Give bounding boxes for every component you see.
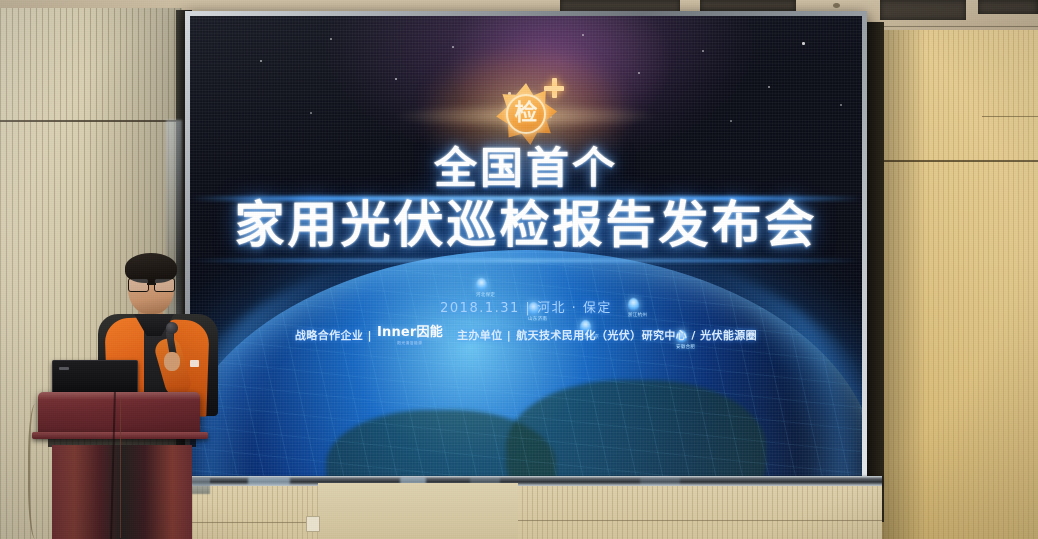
ceiling-vent-4 xyxy=(978,0,1038,14)
map-pin: 江苏南京 xyxy=(580,320,599,340)
star xyxy=(730,120,732,122)
star xyxy=(452,46,454,48)
star xyxy=(768,86,770,88)
star xyxy=(802,42,805,45)
map-pin-dot xyxy=(476,278,487,291)
microphone-icon xyxy=(166,322,178,334)
right-wall-shading xyxy=(878,30,1038,539)
star xyxy=(638,72,640,74)
bottom-wall-panel xyxy=(182,486,882,539)
bottom-wall-seam xyxy=(182,522,318,523)
star xyxy=(840,104,842,106)
map-pin-label: 江苏南京 xyxy=(580,334,599,340)
bottom-wall-plain-panel xyxy=(318,483,518,539)
podium-desktop-highlight xyxy=(38,392,200,400)
star xyxy=(330,38,332,40)
bottom-wall-seam xyxy=(518,520,882,521)
ceiling-sprinkler xyxy=(833,3,840,8)
glasses-left-lens xyxy=(128,278,149,292)
chrome-reflection xyxy=(248,477,290,485)
title-light-streak xyxy=(190,196,862,201)
emblem-character: 检 xyxy=(515,102,538,125)
jacket-badge xyxy=(190,360,199,367)
star xyxy=(395,78,397,80)
glasses-right-lens xyxy=(154,278,175,292)
map-pin-dot xyxy=(528,302,539,315)
chrome-reflection xyxy=(640,477,680,485)
slide-emblem: 检 xyxy=(466,68,586,160)
glasses-bridge xyxy=(147,283,156,285)
star xyxy=(310,112,312,114)
podium-cable xyxy=(120,398,131,538)
ceiling-vent-2 xyxy=(700,0,796,11)
earth-globe-graphic: 河北保定 山东济南 江苏南京 浙江杭州 安徽合肥 xyxy=(190,250,862,478)
star xyxy=(702,50,704,52)
map-pin-label: 浙江杭州 xyxy=(628,312,647,318)
map-pin: 山东济南 xyxy=(528,302,547,322)
ceiling-vent-3 xyxy=(880,0,966,20)
wall-outlet xyxy=(306,516,320,532)
subtitle-light-streak xyxy=(190,259,862,262)
hand xyxy=(164,352,180,371)
map-pin-label: 山东济南 xyxy=(528,316,547,322)
map-pin: 河北保定 xyxy=(476,278,495,298)
map-pin: 浙江杭州 xyxy=(628,298,647,318)
wall-cable xyxy=(28,404,46,539)
presentation-photo-scene: 检 河北保定 山东济南 江苏南京 xyxy=(0,0,1038,539)
map-pin: 安徽合肥 xyxy=(676,330,695,350)
map-pin-label: 安徽合肥 xyxy=(676,344,695,350)
star xyxy=(260,60,262,62)
map-pin-dot xyxy=(580,320,591,333)
map-pin-dot xyxy=(676,330,687,343)
star xyxy=(582,34,584,36)
plus-icon xyxy=(544,78,564,98)
presentation-screen: 检 河北保定 山东济南 江苏南京 xyxy=(190,16,862,478)
map-pin-dot xyxy=(628,298,639,311)
glasses-icon xyxy=(128,278,175,290)
map-pin-label: 河北保定 xyxy=(476,292,495,298)
laptop-logo xyxy=(59,367,69,370)
